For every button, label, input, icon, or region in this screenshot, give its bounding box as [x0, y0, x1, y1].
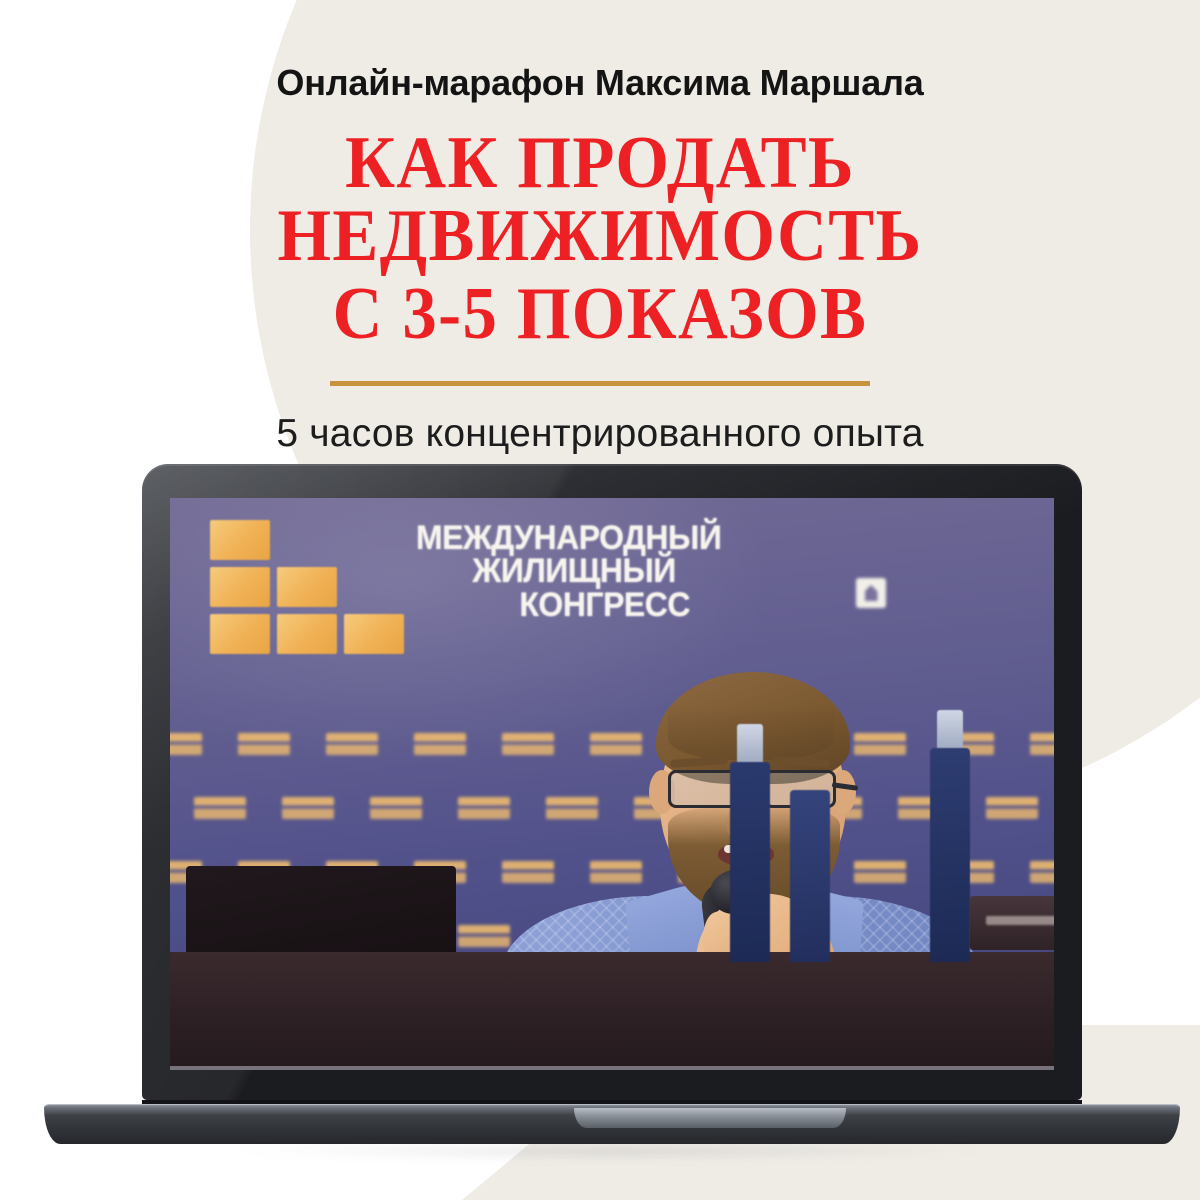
congress-logo: МЕЖДУНАРОДНЫЙ ЖИЛИЩНЫЙ КОНГРЕСС — [210, 520, 741, 654]
congress-square-empty — [277, 520, 337, 560]
screen-bottom-edge — [170, 1066, 1054, 1070]
headline-line-1: КАК ПРОДАТЬ НЕДВИЖИМОСТЬ — [278, 122, 923, 277]
laptop-mockup: МЕЖДУНАРОДНЫЙ ЖИЛИЩНЫЙ КОНГРЕСС — [142, 464, 1082, 1154]
poster-canvas: Онлайн-марафон Максима Маршала КАК ПРОДА… — [0, 0, 1200, 1200]
press-wall-mark — [282, 797, 334, 819]
press-wall-mark — [1030, 733, 1054, 755]
press-wall-mark — [458, 925, 510, 947]
congress-square — [210, 614, 270, 654]
headline-text-block: Онлайн-марафон Максима Маршала КАК ПРОДА… — [0, 0, 1200, 501]
conference-desk — [170, 952, 1054, 1070]
press-wall-mark — [326, 733, 378, 755]
congress-square — [277, 567, 337, 607]
subtitle-primary: 5 часов концентрированного опыта — [0, 386, 1200, 456]
congress-text-line-3: КОНГРЕСС — [416, 589, 721, 622]
press-wall-mark — [170, 733, 202, 755]
congress-square — [210, 520, 270, 560]
main-headline: КАК ПРОДАТЬ НЕДВИЖИМОСТЬ С 3-5 ПОКАЗОВ — [42, 103, 1158, 351]
table-flag-1 — [730, 762, 770, 962]
press-wall-mark — [238, 733, 290, 755]
table-flag-3 — [930, 748, 970, 962]
sponsor-logo — [856, 578, 893, 608]
press-wall-mark — [458, 797, 510, 819]
congress-text-line-1: МЕЖДУНАРОДНЫЙ — [416, 522, 721, 555]
congress-square — [210, 567, 270, 607]
press-wall-mark — [414, 733, 466, 755]
sponsor-logo-icon — [856, 578, 886, 608]
congress-text-line-2: ЖИЛИЩНЫЙ — [416, 555, 721, 588]
laptop-base-notch — [574, 1108, 846, 1128]
headline-line-2: С 3-5 ПОКАЗОВ — [42, 272, 1158, 351]
congress-logo-text: МЕЖДУНАРОДНЫЙ ЖИЛИЩНЫЙ КОНГРЕСС — [416, 520, 721, 622]
laptop-lid: МЕЖДУНАРОДНЫЙ ЖИЛИЩНЫЙ КОНГРЕСС — [142, 464, 1082, 1100]
desk-name-sign — [970, 896, 1054, 950]
press-wall-mark — [1030, 861, 1054, 883]
table-flag-2 — [790, 790, 830, 962]
congress-square-empty — [344, 567, 404, 607]
eyebrow-title: Онлайн-марафон Максима Маршала — [0, 0, 1200, 103]
laptop-screen: МЕЖДУНАРОДНЫЙ ЖИЛИЩНЫЙ КОНГРЕСС — [170, 498, 1054, 1070]
laptop-drop-shadow — [72, 1148, 1152, 1176]
press-wall-mark — [194, 797, 246, 819]
press-wall-mark — [370, 797, 422, 819]
press-wall-mark — [986, 797, 1038, 819]
congress-square — [344, 614, 404, 654]
congress-square-empty — [344, 520, 404, 560]
congress-logo-squares — [210, 520, 404, 654]
congress-square — [277, 614, 337, 654]
